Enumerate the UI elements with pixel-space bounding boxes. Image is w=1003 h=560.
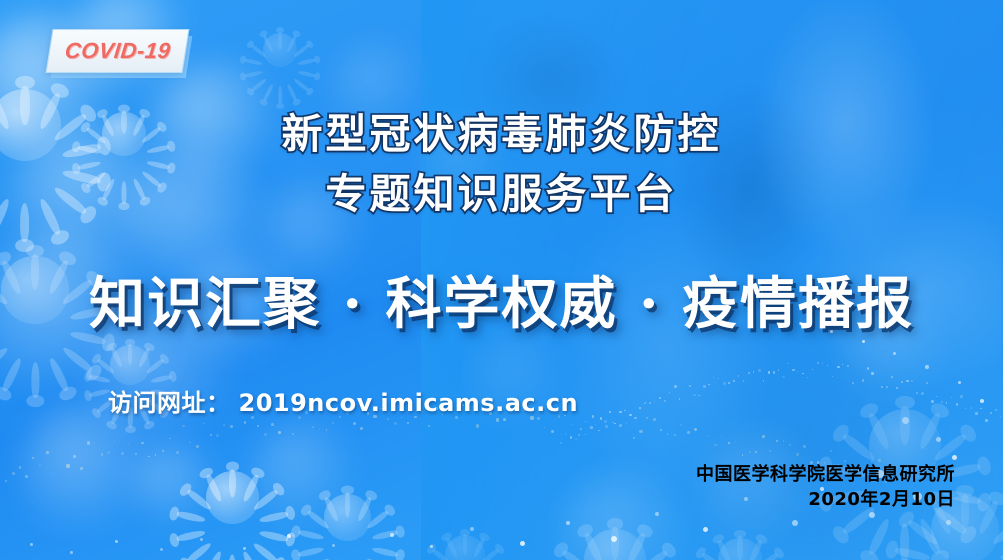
virus-spike [293,78,310,92]
dust-speck [12,472,15,475]
virus-spike [278,32,282,50]
virus-spike [638,549,669,560]
dust-speck [783,440,785,442]
virus-spike [977,499,1000,535]
bokeh-dot [30,543,33,546]
url-value: 2019ncov.imicams.ac.cn [239,389,579,417]
virus-spike [205,473,223,502]
dust-speck [762,435,765,438]
network-speck [604,420,606,422]
network-speck [787,363,788,364]
network-speck [753,371,755,373]
virus-body [584,529,646,560]
bokeh-dot [390,533,394,537]
virus-spike [737,536,743,560]
dust-speck [687,431,690,434]
virus-spike [748,540,763,560]
dust-speck [394,422,397,425]
network-speck [758,369,761,372]
dust-speck [598,430,600,432]
network-speck [679,398,681,400]
dust-speck [571,424,572,425]
virus-spike [186,541,212,560]
dust-speck [155,454,156,455]
dust-speck [360,427,363,430]
dust-speck [176,451,179,454]
virus-spike [253,541,279,560]
virus-spike [253,488,279,511]
dust-speck [46,451,49,454]
virus-spike [186,488,212,511]
dust-speck [428,425,430,427]
virus-spike [297,546,323,557]
dust-speck [264,433,267,436]
network-speck [619,411,622,414]
virus-particle-icon [560,505,670,560]
virus-spike [918,517,943,556]
virus-spike [0,357,23,393]
dust-speck [694,428,697,431]
network-speck [773,371,775,373]
network-speck [956,403,959,406]
virus-spike [293,44,310,58]
dust-speck [353,422,356,425]
network-speck [713,377,714,378]
dust-speck [87,441,90,444]
network-speck [881,386,883,388]
virus-spike [933,432,969,463]
virus-spike [242,473,260,502]
network-speck [832,376,833,377]
virus-spike [306,557,330,560]
network-speck [896,387,898,389]
dust-speck [53,472,54,473]
virus-spike [176,529,205,542]
network-speck [733,380,735,382]
virus-spike [262,83,274,101]
virus-spike [918,412,943,451]
network-speck [792,369,794,371]
dust-speck [169,438,171,440]
virus-spike [251,78,268,92]
virus-spike [366,557,390,560]
poster-canvas: COVID-19 新型冠状病毒肺炎防控 专题知识服务平台 知识汇聚 · 科学权威… [0,0,1003,560]
dust-speck [141,442,143,444]
virus-spike [900,523,909,560]
network-speck [926,382,928,384]
virus-particle-icon [700,520,780,560]
network-speck [748,372,750,374]
dust-speck [708,436,709,437]
network-speck [951,397,952,398]
dust-speck [210,434,212,436]
virus-spike [867,517,892,556]
bokeh-dot [946,520,951,525]
network-speck [990,412,992,414]
network-speck [600,417,603,420]
virus-spike [900,406,909,445]
network-speck [975,412,978,415]
network-speck [763,380,765,382]
dust-speck [551,430,554,433]
slogan-text: 知识汇聚 · 科学权威 · 疫情播报 [0,268,1003,340]
url-label: 访问网址： [108,389,231,417]
bokeh-dot [893,352,896,355]
virus-spike [260,529,289,542]
network-speck [629,414,632,417]
virus-spike [906,518,939,547]
network-speck [590,426,593,429]
virus-particle-icon [430,520,500,560]
bokeh-dot [332,544,335,547]
dust-speck [203,423,205,425]
dust-speck [503,418,506,421]
network-speck [570,436,572,438]
virus-spike [286,83,298,101]
network-speck [693,394,695,396]
network-speck [867,367,869,369]
virus-spike [372,546,398,557]
title-line-1: 新型冠状病毒肺炎防控 [0,104,1003,164]
dust-speck [73,455,75,457]
virus-spike [31,362,39,398]
network-speck [936,396,937,397]
virus-body [445,535,484,560]
bokeh-dot [70,551,73,554]
network-speck [585,434,586,435]
virus-particle-icon [185,450,280,545]
network-speck [782,376,784,378]
bokeh-dot [611,536,617,542]
network-speck [703,385,706,388]
network-speck [684,394,685,395]
dust-speck [196,445,199,448]
network-speck [891,376,892,377]
network-speck [664,400,666,402]
virus-spike [0,345,9,374]
network-speck [797,371,798,372]
virus-spike [229,469,236,498]
network-speck [689,385,691,387]
virus-spike [297,70,315,78]
bokeh-dot [925,365,929,369]
bokeh-dot [902,417,909,424]
bokeh-dot [655,512,659,516]
virus-spike [278,86,282,104]
network-speck [857,382,858,383]
dust-speck [728,442,730,444]
bokeh-dot [792,520,798,526]
virus-spike [61,345,94,374]
virus-spike [96,358,115,375]
network-speck [728,382,730,384]
dust-speck [32,457,33,458]
network-speck [862,379,865,382]
network-speck [560,442,562,444]
network-speck [837,366,840,369]
network-speck [659,397,661,399]
network-speck [911,380,913,382]
virus-spike [260,510,289,523]
dust-speck [148,456,150,458]
virus-spike [583,532,604,560]
virus-spike [626,532,647,560]
virus-spike [356,496,372,522]
dust-speck [742,454,744,456]
bokeh-dot [160,548,163,551]
virus-spike [244,70,262,78]
dust-speck [680,424,682,426]
virus-spike [480,548,499,560]
dust-speck [612,422,613,423]
virus-spike [89,374,111,383]
virus-spike [561,549,592,560]
dust-speck [803,445,806,448]
dust-speck [674,434,676,436]
dust-speck [60,470,61,471]
dust-speck [660,429,662,431]
network-speck [931,400,934,403]
dust-speck [387,418,389,420]
network-speck [614,423,615,424]
virus-spike [110,347,124,368]
virus-spike [472,537,486,558]
dust-speck [230,425,233,428]
network-speck [970,407,972,409]
dust-speck [626,423,627,424]
virus-spike [345,492,351,518]
network-speck [946,402,948,404]
virus-body [718,538,763,560]
dust-speck [407,422,409,424]
footer-attribution: 中国医学科学院医学信息研究所 2020年2月10日 [696,462,955,512]
dust-speck [101,453,104,456]
title-line-2: 专题知识服务平台 [0,164,1003,224]
dust-speck [701,438,702,439]
network-speck [822,363,823,364]
virus-body [206,471,259,524]
network-speck [985,419,988,422]
network-speck [965,408,966,409]
page-title: 新型冠状病毒肺炎防控 专题知识服务平台 [0,104,1003,224]
network-speck [743,380,744,381]
dust-speck [216,434,218,436]
network-speck [906,380,909,383]
virus-particle-icon [305,475,390,560]
network-speck [807,377,808,378]
dust-speck [496,418,499,421]
virus-spike [701,552,723,560]
network-speck [654,401,656,403]
dust-speck [667,433,669,435]
glow-blob [560,470,690,560]
dust-speck [292,433,294,435]
network-speck [649,402,652,405]
dust-speck [257,425,259,427]
virus-spike [229,555,236,560]
virus-spike [999,546,1003,560]
dust-speck [646,417,648,419]
dust-speck [326,429,328,431]
bokeh-dot [287,534,291,538]
dust-speck [285,421,286,422]
virus-spike [128,344,133,365]
bokeh-dot [566,521,570,525]
network-speck [609,411,611,413]
dust-speck [769,450,771,452]
dust-speck [237,440,238,441]
badge-panel: COVID-19 [47,30,189,72]
virus-spike [445,537,459,558]
dust-speck [735,441,736,442]
dust-speck [312,426,314,428]
virus-spike [366,509,390,530]
virus-spike [47,357,70,393]
bokeh-dot [243,547,246,550]
network-speck [847,365,849,367]
bokeh-dot [980,399,984,403]
badge-label: COVID-19 [63,38,171,64]
network-speck [876,372,877,373]
virus-body [110,345,149,384]
network-speck [634,417,636,419]
bokeh-dot [430,545,433,548]
virus-spike [297,58,315,66]
network-speck [580,428,582,430]
network-speck [669,392,670,393]
network-speck [595,424,597,426]
network-speck [1000,416,1001,417]
network-speck [674,385,677,388]
dust-speck [107,451,110,454]
network-speck [817,362,819,364]
dust-speck [135,453,137,455]
dust-speck [271,423,274,426]
bokeh-dot [115,540,118,543]
dust-speck [162,450,164,452]
virus-spike [244,58,262,66]
virus-spike [431,548,450,560]
covid-19-badge: COVID-19 [47,30,189,72]
dust-speck [80,467,83,470]
network-speck [708,384,709,385]
dust-speck [319,429,320,430]
network-speck [960,395,963,398]
network-speck [698,395,700,397]
virus-spike [841,432,877,463]
dust-speck [544,427,545,428]
network-speck [812,369,813,370]
dust-speck [796,453,799,456]
network-speck [802,373,804,375]
bokeh-dot [703,527,708,532]
virus-body [263,33,297,67]
network-speck [778,369,780,371]
virus-spike [717,540,732,560]
glow-blob [20,400,160,540]
bokeh-dot [958,381,961,384]
virus-spike [306,509,330,530]
glow-blob [130,440,220,530]
dust-speck [19,466,22,469]
dust-speck [755,451,757,453]
virus-spike [145,358,164,375]
network-speck [738,375,739,376]
virus-body [324,494,372,542]
dust-speck [578,434,580,436]
glow-blob [250,420,360,530]
dust-speck [653,418,656,421]
virus-spike [89,388,111,397]
network-speck [941,401,943,403]
virus-spike [176,510,205,523]
bokeh-dot [869,512,875,518]
virus-spike [757,552,779,560]
dust-speck [830,450,832,452]
dust-speck [5,480,7,482]
network-speck [639,407,641,409]
virus-spike [251,44,268,58]
dust-speck [66,464,69,467]
virus-spike [242,550,260,560]
network-speck [871,372,873,374]
bokeh-dot [952,455,957,460]
dust-speck [332,422,334,424]
dust-speck [39,465,41,467]
network-speck [980,408,981,409]
dust-speck [585,421,586,422]
virus-spike [323,496,339,522]
virus-spike [867,412,892,451]
network-speck [565,433,567,435]
footer-organization: 中国医学科学院医学信息研究所 [696,462,955,487]
network-speck [886,386,888,388]
dust-speck [776,440,778,442]
dust-speck [278,431,281,434]
virus-spike [372,529,398,540]
website-url-line: 访问网址：2019ncov.imicams.ac.cn [108,383,578,418]
virus-spike [297,529,323,540]
network-speck [644,402,646,404]
dust-speck [182,425,185,428]
dust-speck [633,437,636,440]
virus-spike [894,546,931,560]
virus-spike [463,534,468,555]
dust-speck [121,452,124,455]
dust-speck [94,442,96,444]
dust-speck [789,444,791,446]
dust-speck [619,424,622,427]
network-speck [842,364,843,365]
network-speck [718,378,719,379]
dust-speck [749,451,751,453]
network-speck [916,392,918,394]
dust-speck [721,436,722,437]
bokeh-dot [200,538,203,541]
network-speck [624,410,626,412]
dust-speck [223,424,225,426]
footer-date: 2020年2月10日 [696,487,955,512]
virus-spike [205,550,223,560]
bokeh-dot [862,340,865,343]
dust-speck [25,475,28,478]
dust-speck [639,430,642,433]
network-speck [768,371,771,374]
network-speck [995,409,997,411]
dust-speck [476,424,479,427]
network-speck [575,438,577,440]
virus-spike [286,35,298,53]
